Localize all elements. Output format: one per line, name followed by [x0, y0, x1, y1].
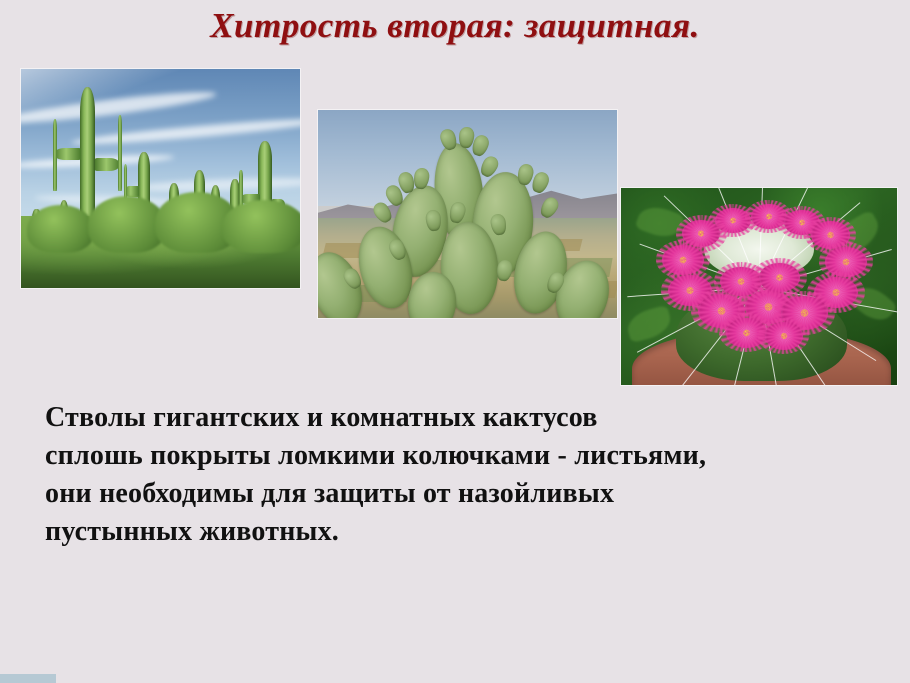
- slide-title: Хитрость вторая: защитная.: [0, 6, 910, 46]
- shrub: [27, 205, 94, 253]
- saguaro-cactus-desert-photo: [21, 69, 300, 288]
- saguaro-photo-content: [21, 69, 300, 288]
- horizontal-scrollbar-thumb[interactable]: [0, 674, 56, 683]
- pink-cactus-flower: [765, 322, 804, 350]
- body-line: Стволы гигантских и комнатных кактусов: [45, 399, 845, 437]
- flowering-mammillaria-cactus-photo: [621, 188, 897, 385]
- body-line: они необходимы для защиты от назойливых: [45, 475, 845, 513]
- slide-canvas: Хитрость вторая: защитная.: [0, 0, 910, 683]
- flower-photo-content: [621, 188, 897, 385]
- opuntia-photo-content: [318, 110, 617, 318]
- body-line: сплошь покрыты ломкими колючками - листь…: [45, 437, 845, 475]
- body-line: пустынных животных.: [45, 513, 845, 551]
- prickly-pear-cactus-photo: [318, 110, 617, 318]
- pink-cactus-flower: [759, 263, 800, 293]
- shrub: [222, 200, 300, 253]
- slide-body-text: Стволы гигантских и комнатных кактусов с…: [45, 399, 845, 551]
